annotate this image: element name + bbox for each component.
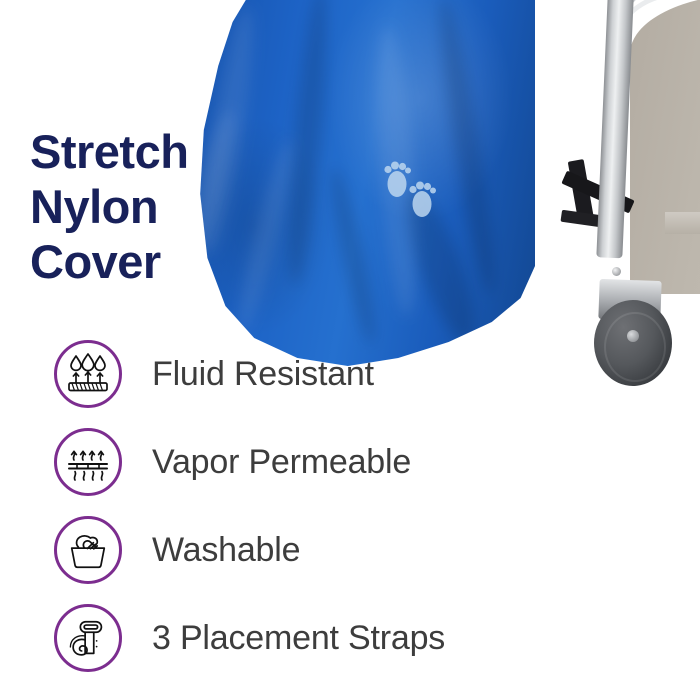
headline-line-1: Stretch	[30, 125, 188, 180]
feature-label: Washable	[152, 531, 300, 570]
feature-label: 3 Placement Straps	[152, 619, 445, 658]
feature-item-vapor-permeable: Vapor Permeable	[54, 418, 674, 506]
washable-icon	[54, 516, 122, 584]
product-feature-poster: Stretch Nylon Cover Fluid Resistant	[0, 0, 700, 700]
fluid-resistant-icon	[54, 340, 122, 408]
footprints-logo	[380, 154, 442, 222]
headline-line-3: Cover	[30, 235, 188, 290]
page-title: Stretch Nylon Cover	[30, 125, 188, 289]
fabric-fold	[325, 166, 382, 346]
feature-label: Fluid Resistant	[152, 355, 374, 394]
gurney-panel-edge	[665, 212, 700, 234]
feature-label: Vapor Permeable	[152, 443, 411, 482]
gurney-vertical-rail	[596, 0, 634, 258]
feature-item-fluid-resistant: Fluid Resistant	[54, 330, 674, 418]
feature-list: Fluid Resistant	[54, 330, 674, 682]
placement-straps-icon	[54, 604, 122, 672]
caster-bolt	[612, 267, 621, 276]
feature-item-washable: Washable	[54, 506, 674, 594]
feature-item-placement-straps: 3 Placement Straps	[54, 594, 674, 682]
vapor-permeable-icon	[54, 428, 122, 496]
headline-line-2: Nylon	[30, 180, 188, 235]
blue-stretch-nylon-cover	[175, 0, 535, 386]
